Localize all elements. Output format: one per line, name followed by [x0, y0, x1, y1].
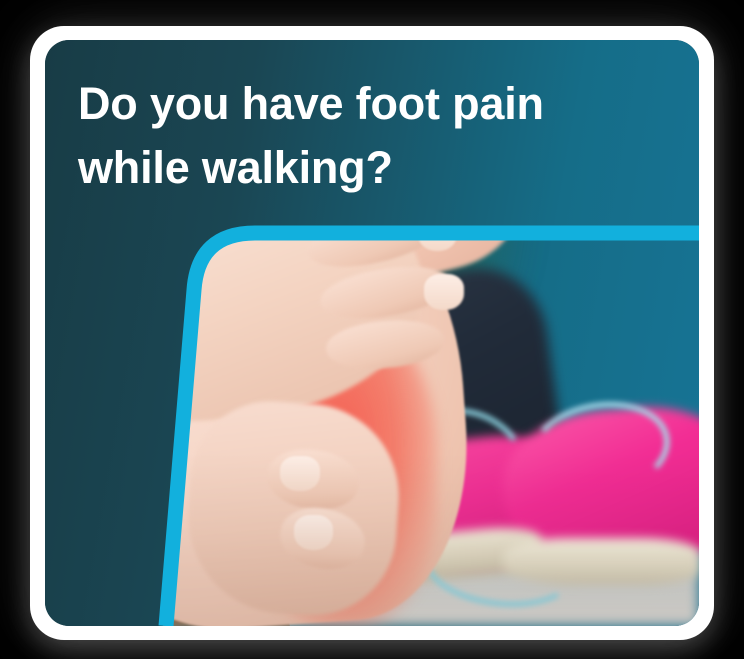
promo-card-frame: Do you have foot pain while walking?: [30, 26, 714, 640]
promo-card: Do you have foot pain while walking?: [45, 40, 699, 626]
page-title: Do you have foot pain while walking?: [78, 72, 678, 200]
screenshot-stage: Do you have foot pain while walking?: [0, 0, 744, 659]
